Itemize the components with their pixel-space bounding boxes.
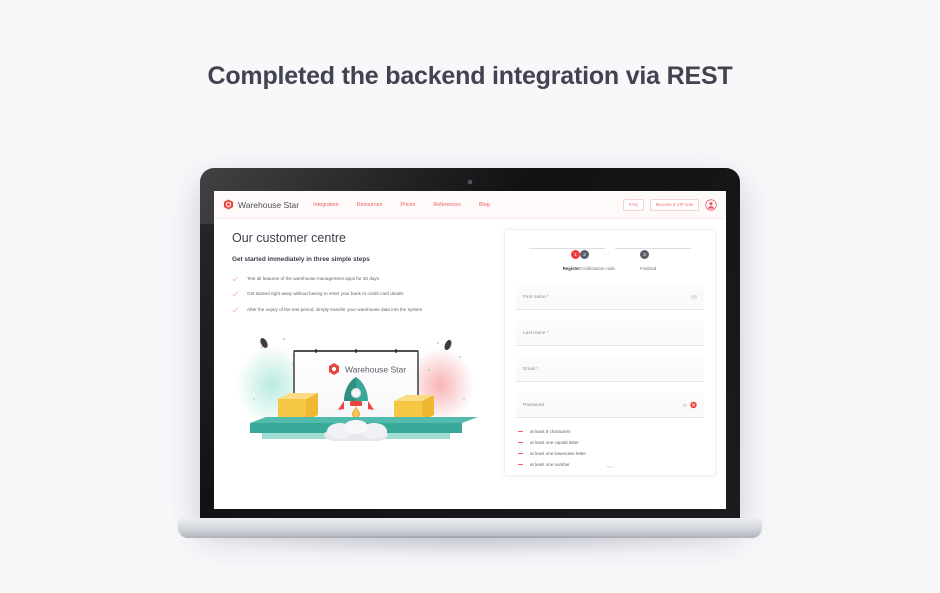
email-label: Email * bbox=[523, 367, 538, 372]
become-vip-button[interactable]: Become a VIP now bbox=[650, 199, 699, 211]
password-field-icons bbox=[682, 402, 698, 409]
list-item: After the expiry of the test period, sim… bbox=[232, 306, 490, 314]
password-rules-list: at least 8 characters at least one capit… bbox=[518, 429, 704, 467]
nav-actions: FAQ Become a VIP now bbox=[623, 199, 717, 211]
step-number: 2 bbox=[580, 250, 589, 259]
check-icon bbox=[232, 307, 238, 313]
step-label: Finished bbox=[640, 266, 700, 271]
step-label: Confirmation code bbox=[580, 266, 640, 271]
nav-link-blog[interactable]: Blog bbox=[479, 202, 490, 208]
webcam-icon bbox=[468, 180, 472, 184]
stepper: 1 Register 2 Confirmation code 3 Finishe… bbox=[520, 243, 700, 271]
page-subheading: Get started immediately in three simple … bbox=[232, 256, 490, 263]
page-body: Our customer centre Get started immediat… bbox=[214, 219, 726, 509]
dash-icon bbox=[518, 442, 523, 443]
user-avatar-icon[interactable] bbox=[705, 199, 717, 211]
password-label: Password bbox=[523, 403, 544, 408]
email-field[interactable]: Email * bbox=[516, 357, 704, 382]
list-item: at least 8 characters bbox=[518, 429, 704, 434]
faq-button[interactable]: FAQ bbox=[623, 199, 644, 211]
rule-text: at least one lowercase letter bbox=[530, 451, 586, 456]
left-column: Our customer centre Get started immediat… bbox=[214, 219, 504, 509]
last-name-label: Last name * bbox=[523, 331, 549, 336]
rocket-launch-illustration: Warehouse Star bbox=[232, 323, 480, 441]
nav-link-prices[interactable]: Prices bbox=[400, 202, 415, 208]
benefit-text: After the expiry of the test period, sim… bbox=[247, 306, 422, 314]
page-title: Completed the backend integration via RE… bbox=[0, 62, 940, 91]
registration-form: 1 Register 2 Confirmation code 3 Finishe… bbox=[504, 229, 716, 476]
step-number: 3 bbox=[640, 250, 649, 259]
password-error-icon bbox=[690, 402, 697, 409]
hexagon-logo-icon bbox=[223, 199, 234, 210]
form-footer-note[interactable]: Next bbox=[505, 464, 715, 469]
step-number: 1 bbox=[571, 250, 580, 259]
list-item: at least one capital letter bbox=[518, 440, 704, 445]
brand-name: Warehouse Star bbox=[238, 200, 299, 210]
page-heading: Our customer centre bbox=[232, 231, 490, 245]
brand-logo[interactable]: Warehouse Star bbox=[223, 199, 299, 210]
browser-screen: Warehouse Star Integration Resources Pri… bbox=[214, 191, 726, 509]
nav-link-references[interactable]: References bbox=[433, 202, 461, 208]
laptop-mockup: Warehouse Star Integration Resources Pri… bbox=[196, 168, 744, 563]
laptop-foot bbox=[178, 518, 762, 538]
benefit-text: Test all features of the warehouse manag… bbox=[247, 275, 379, 283]
benefits-list: Test all features of the warehouse manag… bbox=[232, 275, 490, 314]
check-icon bbox=[232, 291, 238, 297]
eye-toggle-icon[interactable] bbox=[682, 402, 688, 408]
step-label: Register bbox=[520, 266, 580, 271]
list-item: Test all features of the warehouse manag… bbox=[232, 275, 490, 283]
list-item: Get started right away without having to… bbox=[232, 290, 490, 298]
list-item: at least one lowercase letter bbox=[518, 451, 704, 456]
check-icon bbox=[232, 276, 238, 282]
first-name-label: First name * bbox=[523, 295, 549, 300]
laptop-lid: Warehouse Star Integration Resources Pri… bbox=[200, 168, 740, 523]
rule-text: at least one capital letter bbox=[530, 440, 579, 445]
svg-text:Warehouse Star: Warehouse Star bbox=[345, 365, 406, 375]
stepper-line-1 bbox=[529, 248, 605, 249]
nav-link-resources[interactable]: Resources bbox=[357, 202, 383, 208]
stepper-line-2 bbox=[615, 248, 691, 249]
illustration-svg: Warehouse Star bbox=[232, 323, 480, 441]
last-name-field[interactable]: Last name * bbox=[516, 321, 704, 346]
rule-text: at least 8 characters bbox=[530, 429, 571, 434]
dash-icon bbox=[518, 431, 523, 432]
first-name-field[interactable]: First name * bbox=[516, 285, 704, 310]
contact-card-icon[interactable] bbox=[691, 294, 697, 300]
nav-links: Integration Resources Prices References … bbox=[313, 202, 490, 208]
site-navbar: Warehouse Star Integration Resources Pri… bbox=[214, 191, 726, 219]
nav-link-integration[interactable]: Integration bbox=[313, 202, 338, 208]
right-column: 1 Register 2 Confirmation code 3 Finishe… bbox=[504, 219, 726, 509]
password-field[interactable]: Password bbox=[516, 393, 704, 418]
benefit-text: Get started right away without having to… bbox=[247, 290, 404, 298]
dash-icon bbox=[518, 453, 523, 454]
laptop-shadow bbox=[206, 536, 734, 558]
